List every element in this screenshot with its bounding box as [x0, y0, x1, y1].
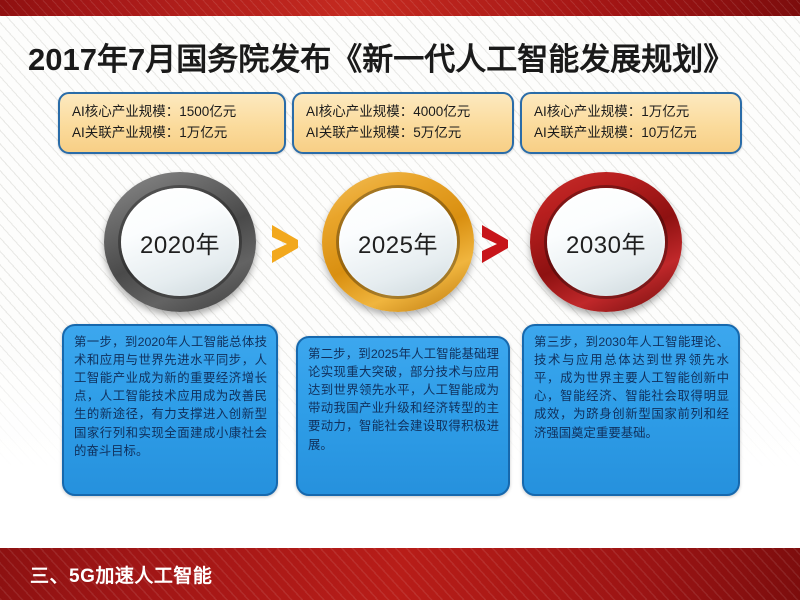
card-related-scale-label: AI关联产业规模：1万亿元: [72, 123, 284, 144]
section-footer-bar: 三、5G加速人工智能: [0, 548, 800, 600]
step-description-text: 第二步，到2025年人工智能基础理论实现重大突破，部分技术与应用达到世界领先水平…: [308, 345, 499, 454]
step-description-box-2020: 第一步，到2020年人工智能总体技术和应用与世界先进水平同步，人工智能产业成为新…: [62, 324, 278, 496]
milestone-circle-2025: 2025年: [322, 172, 474, 312]
section-footer-label: 三、5G加速人工智能: [30, 561, 212, 588]
chevron-right-icon: [478, 222, 512, 266]
card-core-scale-label: AI核心产业规模：4000亿元: [306, 102, 512, 123]
page-title: 2017年7月国务院发布《新一代人工智能发展规划》: [28, 34, 734, 79]
step-description-text: 第三步，到2030年人工智能理论、技术与应用总体达到世界领先水平，成为世界主要人…: [534, 333, 729, 442]
card-related-scale-label: AI关联产业规模：10万亿元: [534, 123, 740, 144]
step-description-box-2025: 第二步，到2025年人工智能基础理论实现重大突破，部分技术与应用达到世界领先水平…: [296, 336, 510, 496]
milestone-year-label: 2030年: [566, 225, 646, 260]
milestone-circle-2020: 2020年: [104, 172, 256, 312]
top-accent-bar: [0, 0, 800, 16]
circle-disc: 2020年: [121, 188, 239, 296]
card-core-scale-label: AI核心产业规模：1500亿元: [72, 102, 284, 123]
step-description-text: 第一步，到2020年人工智能总体技术和应用与世界先进水平同步，人工智能产业成为新…: [74, 333, 267, 460]
chevron-right-icon: [268, 222, 302, 266]
milestone-year-label: 2020年: [140, 225, 220, 260]
step-description-box-2030: 第三步，到2030年人工智能理论、技术与应用总体达到世界领先水平，成为世界主要人…: [522, 324, 740, 496]
circle-disc: 2030年: [547, 188, 665, 296]
milestone-year-label: 2025年: [358, 225, 438, 260]
circle-disc: 2025年: [339, 188, 457, 296]
industry-scale-card-2030: AI核心产业规模：1万亿元 AI关联产业规模：10万亿元: [520, 92, 742, 154]
industry-scale-card-2020: AI核心产业规模：1500亿元 AI关联产业规模：1万亿元: [58, 92, 286, 154]
card-related-scale-label: AI关联产业规模：5万亿元: [306, 123, 512, 144]
industry-scale-card-2025: AI核心产业规模：4000亿元 AI关联产业规模：5万亿元: [292, 92, 514, 154]
card-core-scale-label: AI核心产业规模：1万亿元: [534, 102, 740, 123]
milestone-circle-2030: 2030年: [530, 172, 682, 312]
slide-root: 2017年7月国务院发布《新一代人工智能发展规划》 AI核心产业规模：1500亿…: [0, 0, 800, 600]
